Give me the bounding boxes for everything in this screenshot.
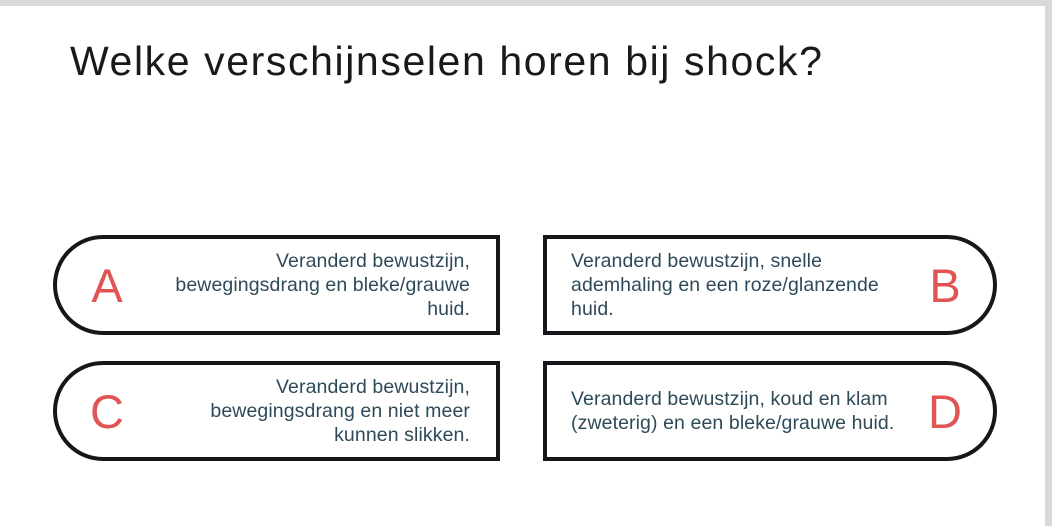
answer-option-b[interactable]: Veranderd bewustzijn, snelle ademhaling …	[543, 235, 997, 335]
answer-option-a[interactable]: A Veranderd bewustzijn, bewegingsdrang e…	[53, 235, 500, 335]
answer-letter-b: B	[917, 262, 973, 309]
page-title: Welke verschijnselen horen bij shock?	[70, 39, 990, 84]
answer-text-c: Veranderd bewustzijn, bewegingsdrang en …	[135, 375, 496, 447]
answer-letter-d: D	[917, 388, 973, 435]
quiz-slide: Welke verschijnselen horen bij shock? A …	[0, 6, 1045, 526]
answer-text-b: Veranderd bewustzijn, snelle ademhaling …	[547, 249, 917, 321]
answer-text-a: Veranderd bewustzijn, bewegingsdrang en …	[135, 249, 496, 321]
answer-letter-a: A	[79, 262, 135, 309]
page-frame-right	[1045, 0, 1052, 526]
answer-text-d: Veranderd bewustzijn, koud en klam (zwet…	[547, 387, 917, 435]
answer-option-d[interactable]: Veranderd bewustzijn, koud en klam (zwet…	[543, 361, 997, 461]
answer-letter-c: C	[79, 388, 135, 435]
answer-option-c[interactable]: C Veranderd bewustzijn, bewegingsdrang e…	[53, 361, 500, 461]
